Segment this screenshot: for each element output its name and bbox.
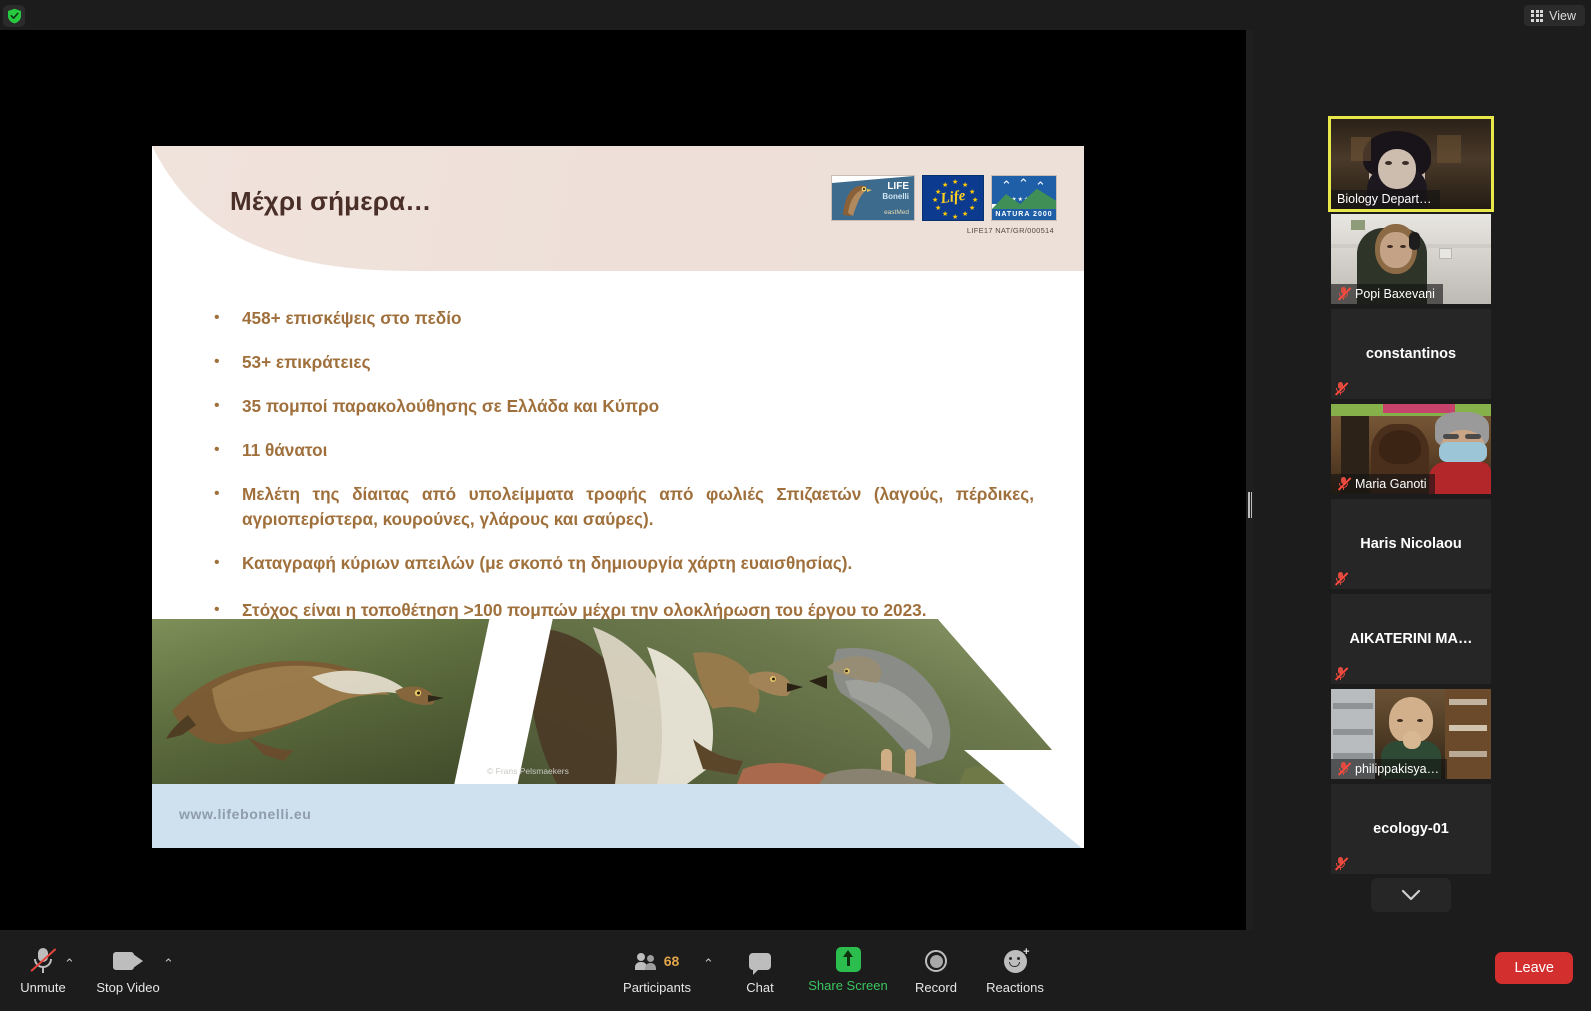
encryption-shield-icon[interactable]	[3, 5, 25, 27]
slide-bullet-list: • 458+ επισκέψεις στο πεδίο • 53+ επικρά…	[214, 306, 1034, 642]
bullet-text: 11 θάνατοι	[242, 438, 327, 463]
bullet-marker: •	[214, 438, 242, 463]
mic-off-icon	[1334, 666, 1347, 681]
bullet-text: 53+ επικράτειες	[242, 350, 371, 375]
slide-footer-band: www.lifebonelli.eu	[152, 784, 1084, 848]
mic-off-icon	[1334, 856, 1347, 871]
participant-filmstrip[interactable]: Biology Depart… Popi Baxevani	[1254, 30, 1591, 930]
participants-options-caret-icon[interactable]: ⌃	[703, 956, 714, 972]
panel-divider[interactable]	[1246, 30, 1254, 930]
participant-name: ecology-01	[1331, 821, 1491, 837]
life-bonelli-eastmed-logo: LIFE Bonelli eastMed	[831, 175, 915, 221]
reactions-label: Reactions	[986, 980, 1044, 995]
photo-credit: © Frans Pelsmaekers	[487, 766, 569, 776]
participant-tile[interactable]: philippakisya…	[1331, 689, 1491, 779]
participant-name-bar: philippakisya…	[1331, 759, 1447, 779]
bullet-item: • 11 θάνατοι	[214, 438, 1034, 463]
zoom-meeting-window: View Μέχρι σήμερα…	[0, 0, 1591, 1011]
view-button-label: View	[1549, 9, 1576, 23]
participant-name-bar: Biology Depart…	[1331, 190, 1440, 209]
top-bar: View	[0, 0, 1591, 30]
participant-name: Popi Baxevani	[1355, 287, 1435, 301]
slide-header: Μέχρι σήμερα… LIFE Bonelli	[152, 146, 1084, 271]
participant-name-bar: Popi Baxevani	[1331, 284, 1443, 304]
video-options-caret-icon[interactable]: ⌃	[163, 956, 174, 972]
panel-drag-handle[interactable]	[1248, 492, 1252, 518]
bullet-marker: •	[214, 394, 242, 419]
goose-icon: ⌃	[1001, 179, 1012, 192]
slide-title: Μέχρι σήμερα…	[230, 186, 431, 217]
mic-off-icon	[1337, 761, 1350, 776]
participant-tile[interactable]: AIKATERINI MA…	[1331, 594, 1491, 684]
reactions-button[interactable]: + Reactions	[972, 946, 1058, 995]
shared-screen-stage[interactable]: Μέχρι σήμερα… LIFE Bonelli	[0, 30, 1246, 930]
slide-photo-band: © Frans Pelsmaekers	[152, 619, 1084, 784]
natura-2000-logo: ⌃ ⌃ ⌃ ★★★★ NATURA 2000	[991, 175, 1057, 221]
bullet-marker: •	[214, 306, 242, 331]
view-button[interactable]: View	[1524, 5, 1585, 26]
footer-corner-cut	[964, 750, 1084, 848]
participant-tile[interactable]: ecology-01	[1331, 784, 1491, 874]
chat-bubble-icon	[749, 946, 771, 976]
participant-name-bar: Maria Ganoti	[1331, 474, 1435, 494]
meeting-toolbar: Unmute ⌃ Stop Video ⌃ 68 Participants ⌃ …	[0, 930, 1591, 1011]
eagle-icon	[836, 179, 876, 219]
stop-video-label: Stop Video	[96, 980, 159, 995]
camera-icon	[113, 946, 143, 976]
bullet-text: 458+ επισκέψεις στο πεδίο	[242, 306, 462, 331]
bullet-item: • Καταγραφή κύριων απειλών (με σκοπό τη …	[214, 551, 1034, 576]
participants-count: 68	[664, 953, 680, 969]
participant-tile[interactable]: Haris Nicolaou	[1331, 499, 1491, 589]
share-screen-button[interactable]: Share Screen	[805, 944, 891, 993]
participant-name: AIKATERINI MA…	[1331, 631, 1491, 647]
chat-label: Chat	[746, 980, 773, 995]
filmstrip-scroll-down-button[interactable]	[1371, 878, 1451, 912]
bullet-marker: •	[214, 551, 242, 576]
participants-button[interactable]: 68 Participants	[614, 946, 700, 995]
bullet-text: 35 πομποί παρακολούθησης σε Ελλάδα και Κ…	[242, 394, 659, 419]
grid-icon	[1531, 10, 1543, 22]
slide-footer-url: www.lifebonelli.eu	[179, 806, 311, 822]
participant-name: constantinos	[1331, 346, 1491, 362]
mic-off-icon	[1337, 476, 1350, 491]
record-button[interactable]: Record	[893, 946, 979, 995]
bullet-item: • Μελέτη της δίαιτας από υπολείμματα τρο…	[214, 482, 1034, 532]
bullet-text: Μελέτη της δίαιτας από υπολείμματα τροφή…	[242, 482, 1034, 532]
people-icon: 68	[635, 946, 680, 976]
mic-off-icon	[30, 946, 56, 976]
bullet-marker: •	[214, 482, 242, 532]
share-screen-icon	[836, 944, 861, 974]
reactions-smiley-icon: +	[1004, 946, 1027, 976]
eu-life-wordmark: Life	[939, 188, 966, 208]
eagle-silhouette	[152, 619, 497, 784]
record-label: Record	[915, 980, 957, 995]
mic-off-icon	[1337, 286, 1350, 301]
participant-name: Biology Depart…	[1337, 192, 1432, 206]
bullet-text: Καταγραφή κύριων απειλών (με σκοπό τη δη…	[242, 551, 852, 576]
leave-button[interactable]: Leave	[1495, 952, 1573, 984]
presentation-slide: Μέχρι σήμερα… LIFE Bonelli	[152, 146, 1084, 848]
shield-check-icon	[7, 8, 22, 24]
goose-icon: ⌃	[1018, 177, 1029, 190]
chat-button[interactable]: Chat	[717, 946, 803, 995]
unmute-label: Unmute	[20, 980, 66, 995]
logo-row: LIFE Bonelli eastMed ★ ★ ★ ★ ★ ★ ★ ★	[831, 175, 1057, 221]
logo-eastmed-text: eastMed	[884, 210, 909, 217]
bullet-item: • 35 πομποί παρακολούθησης σε Ελλάδα και…	[214, 394, 1034, 419]
bonelli-eagle-flight-photo	[152, 619, 497, 784]
mic-off-icon	[1334, 381, 1347, 396]
participant-name: philippakisya…	[1355, 762, 1439, 776]
audio-options-caret-icon[interactable]: ⌃	[64, 956, 75, 972]
logo-life-text: LIFE	[887, 182, 909, 192]
record-icon	[925, 946, 947, 976]
participant-tile[interactable]: Maria Ganoti	[1331, 404, 1491, 494]
logo-bonelli-text: Bonelli	[882, 193, 909, 201]
project-code: LIFE17 NAT/GR/000514	[967, 226, 1054, 235]
participants-label: Participants	[623, 980, 691, 995]
mic-off-icon	[1334, 571, 1347, 586]
share-screen-label: Share Screen	[808, 978, 888, 993]
participant-tile[interactable]: constantinos	[1331, 309, 1491, 399]
participant-name: Haris Nicolaou	[1331, 536, 1491, 552]
participant-tile[interactable]: Popi Baxevani	[1331, 214, 1491, 304]
participant-name: Maria Ganoti	[1355, 477, 1427, 491]
chevron-down-icon	[1401, 889, 1421, 901]
natura-wordmark: NATURA 2000	[992, 209, 1056, 220]
bullet-item: • 458+ επισκέψεις στο πεδίο	[214, 306, 1034, 331]
stop-video-button[interactable]: Stop Video	[85, 946, 171, 995]
bullet-marker: •	[214, 350, 242, 375]
participant-tile[interactable]: Biology Depart…	[1331, 119, 1491, 209]
eu-life-logo: ★ ★ ★ ★ ★ ★ ★ ★ ★ ★ ★ ★ Life	[922, 175, 984, 221]
bullet-item: • 53+ επικράτειες	[214, 350, 1034, 375]
